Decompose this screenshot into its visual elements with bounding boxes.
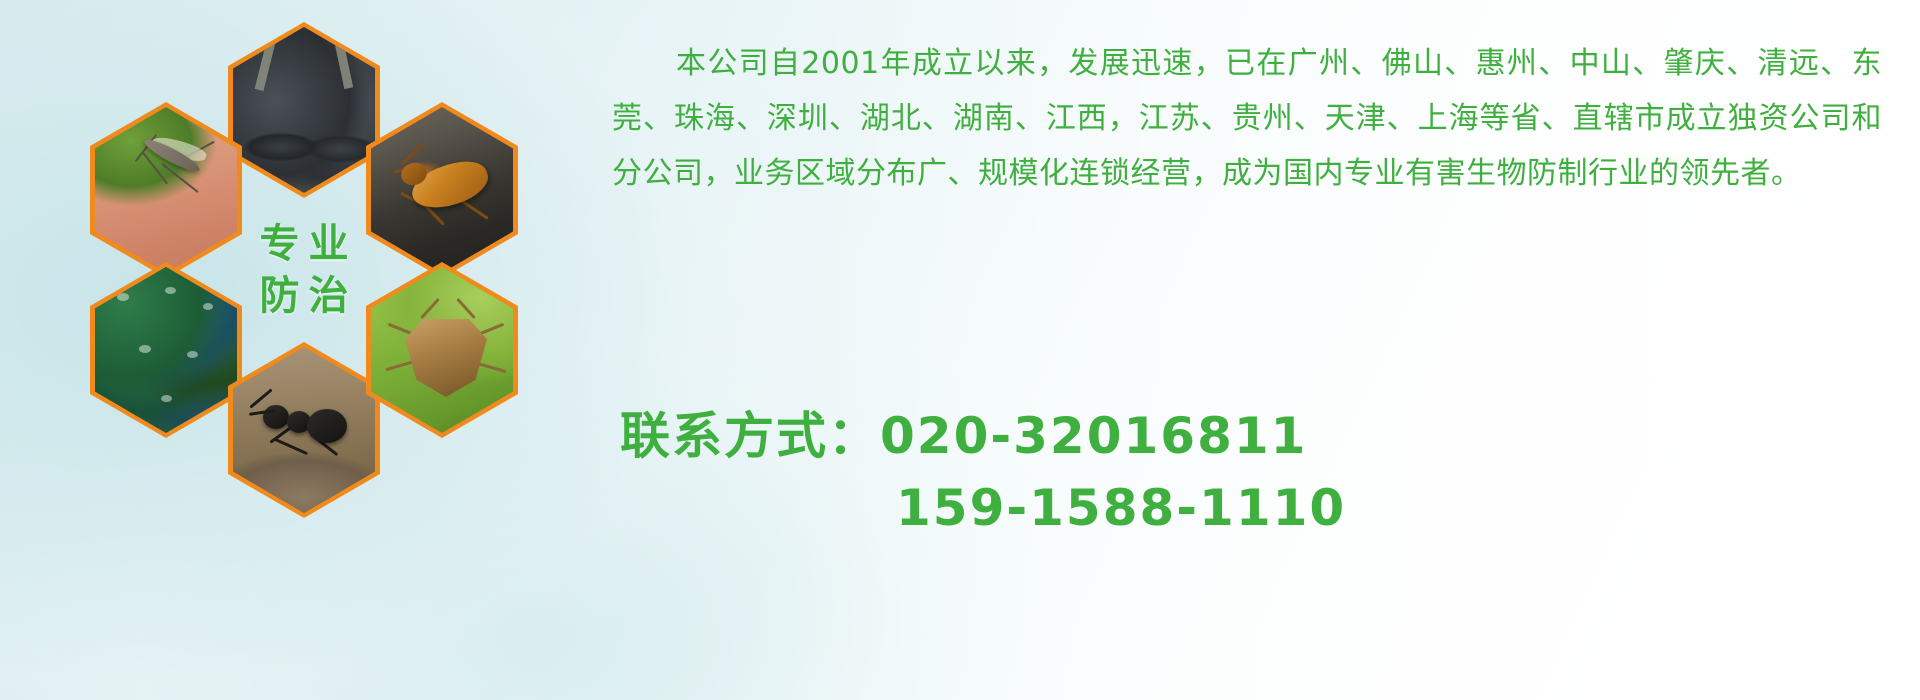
intro-copy-block: 本公司自2001年成立以来，发展迅速，已在广州、佛山、惠州、中山、肇庆、清远、东… — [612, 36, 1882, 201]
hex-photo-ant[interactable] — [228, 342, 380, 518]
hex-photo-rats-inner — [233, 27, 375, 193]
stink-bug-antenna-2 — [456, 298, 476, 319]
contact-phone-primary[interactable]: 联系方式：020-32016811 — [620, 400, 1346, 472]
ant-head — [263, 405, 289, 429]
hex-photo-cockroach-inner — [371, 107, 513, 273]
stink-bug-antenna-1 — [420, 298, 440, 319]
intro-paragraph: 本公司自2001年成立以来，发展迅速，已在广州、佛山、惠州、中山、肇庆、清远、东… — [612, 36, 1882, 201]
ant-photo — [233, 347, 375, 513]
rat-scene-stick-right — [330, 27, 353, 89]
fly-glint-5 — [187, 351, 198, 358]
hex-center-label-line2: 防治 — [251, 275, 358, 317]
cockroach-photo — [371, 107, 513, 273]
hex-photo-cockroach[interactable] — [366, 102, 518, 278]
hex-photo-stink-bug-inner — [371, 267, 513, 433]
contact-block: 联系方式：020-32016811 159-1588-1110 — [620, 400, 1346, 544]
hex-photo-flies[interactable] — [90, 262, 242, 438]
hex-photo-stink-bug[interactable] — [366, 262, 518, 438]
hex-center-label-line1: 专业 — [251, 223, 358, 265]
fly-glint-1 — [117, 293, 129, 301]
hex-center-label: 专业 防治 — [228, 182, 380, 358]
fly-glint-6 — [161, 395, 172, 402]
hex-photo-rats[interactable] — [228, 22, 380, 198]
hex-photo-cluster: 专业 防治 — [90, 8, 590, 548]
fly-glint-4 — [139, 345, 151, 353]
hex-photo-mosquito-inner — [95, 107, 237, 273]
ant-abdomen — [307, 409, 347, 443]
flies-photo — [95, 267, 237, 433]
contact-phone-secondary[interactable]: 159-1588-1110 — [620, 472, 1346, 544]
rat-scene-stick-left — [255, 27, 281, 91]
rats-photo — [233, 27, 375, 193]
hex-center-label-box: 专业 防治 — [228, 182, 380, 358]
stink-bug-body — [405, 319, 487, 397]
ant-leg-2 — [274, 438, 308, 455]
mosquito-photo — [95, 107, 237, 273]
fly-glint-3 — [203, 303, 213, 310]
hex-photo-ant-inner — [233, 347, 375, 513]
banner-root: 专业 防治 本公司自2001年成立以来，发展迅速，已在广州、佛山、惠州、中山、肇… — [0, 0, 1920, 700]
stink-bug-photo — [371, 267, 513, 433]
hex-photo-flies-inner — [95, 267, 237, 433]
hex-photo-mosquito[interactable] — [90, 102, 242, 278]
fly-glint-2 — [165, 287, 176, 294]
